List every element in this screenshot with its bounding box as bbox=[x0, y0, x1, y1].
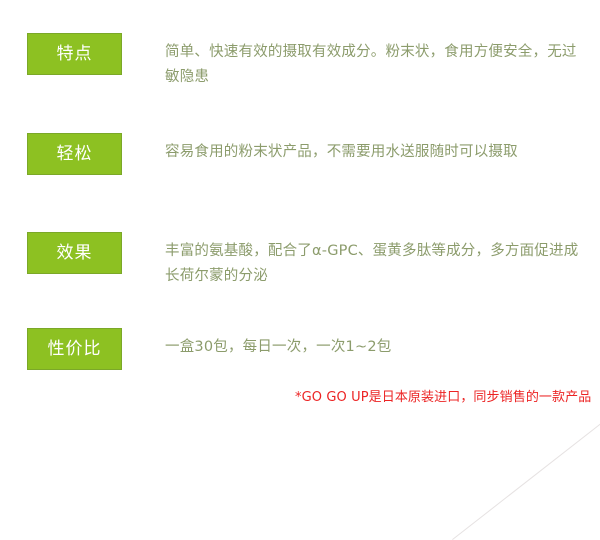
footnote-note: *GO GO UP是日本原装进口，同步销售的一款产品 bbox=[295, 388, 591, 408]
product-feature-panel: 特点 简单、快速有效的摄取有效成分。粉末状，食用方便安全，无过敏隐患 轻松 容易… bbox=[0, 0, 600, 423]
feature-tag-1: 特点 bbox=[27, 33, 122, 75]
feature-tag-3: 效果 bbox=[27, 232, 122, 274]
feature-tag-2: 轻松 bbox=[27, 133, 122, 175]
feature-tag-label: 效果 bbox=[57, 245, 93, 262]
feature-description-4: 一盒30包，每日一次，一次1~2包 bbox=[165, 335, 580, 360]
feature-description-3: 丰富的氨基酸，配合了α-GPC、蛋黄多肽等成分，多方面促进成长荷尔蒙的分泌 bbox=[165, 239, 580, 289]
feature-tag-label: 特点 bbox=[57, 46, 93, 63]
feature-description-1: 简单、快速有效的摄取有效成分。粉末状，食用方便安全，无过敏隐患 bbox=[165, 40, 580, 90]
feature-tag-label: 轻松 bbox=[57, 146, 93, 163]
feature-tag-label: 性价比 bbox=[48, 341, 102, 358]
feature-description-2: 容易食用的粉末状产品，不需要用水送服随时可以摄取 bbox=[165, 140, 580, 165]
diagonal-watermark-artifact bbox=[452, 416, 600, 540]
feature-tag-4: 性价比 bbox=[27, 328, 122, 370]
